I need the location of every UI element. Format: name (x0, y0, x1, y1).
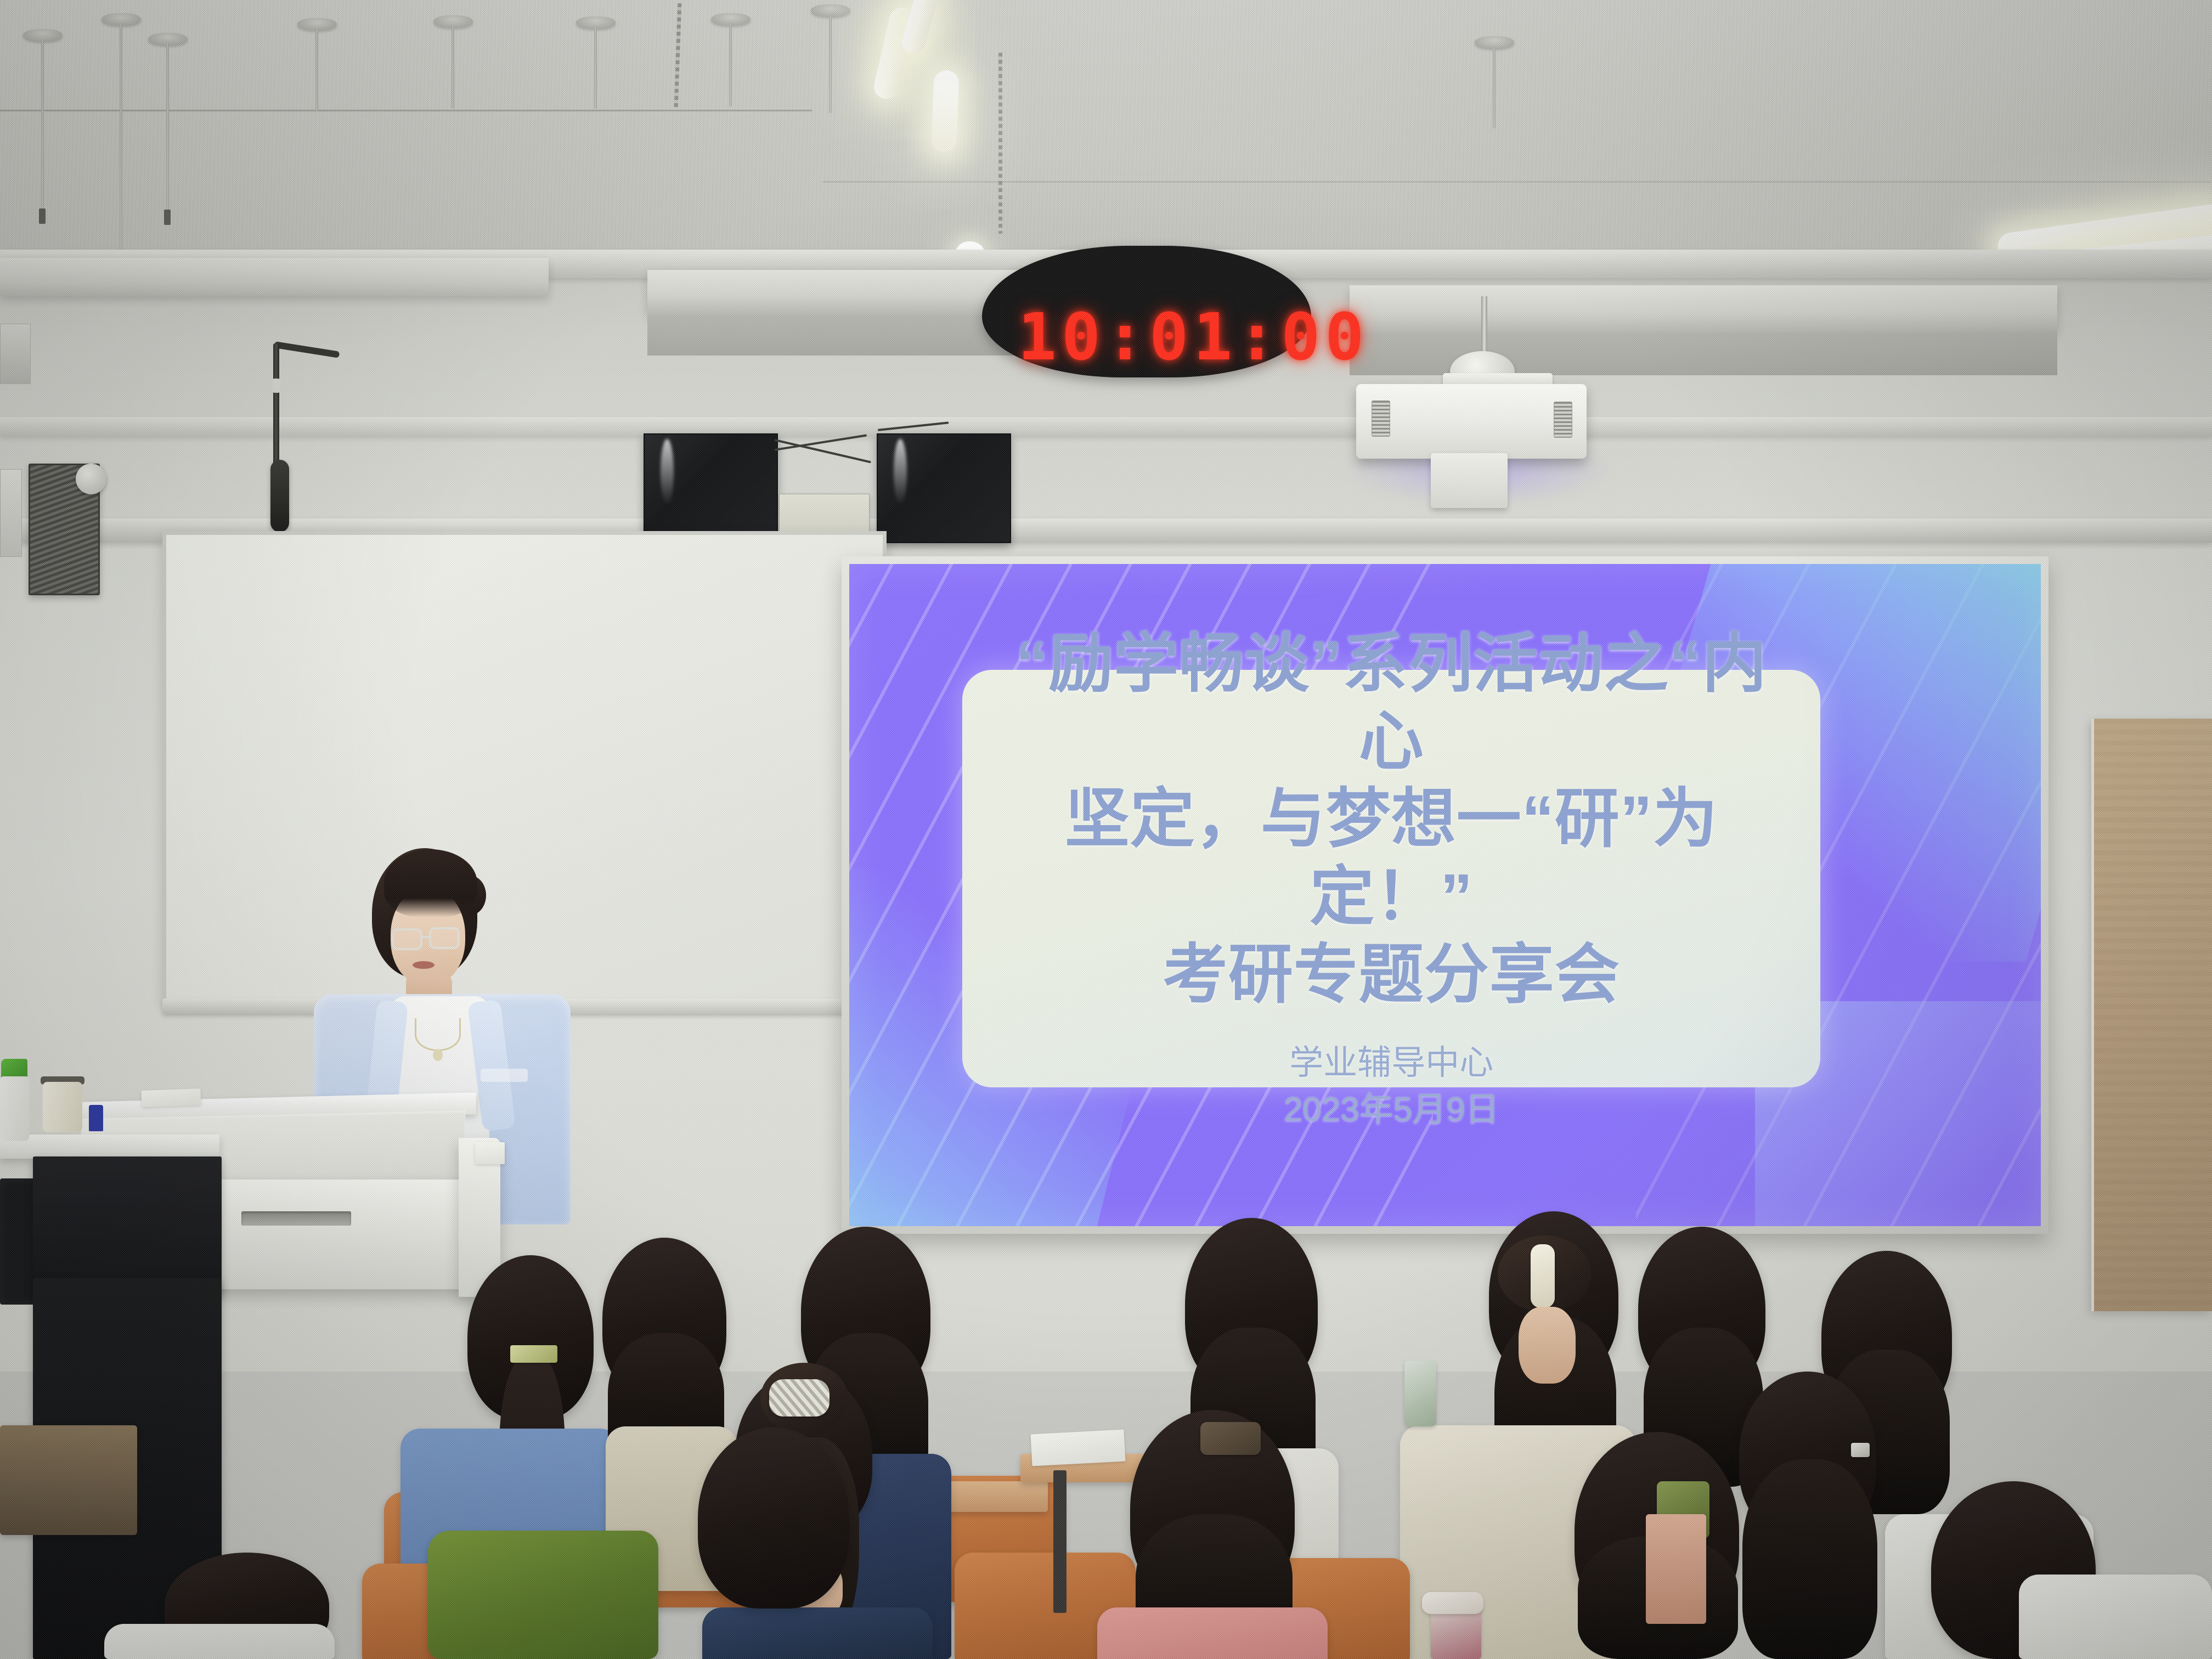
ceiling-light-tube (931, 70, 959, 153)
slide-canvas: “励学畅谈”系列活动之“内心 坚定，与梦想一“研”为定！” 考研专题分享会 学业… (849, 564, 2041, 1226)
ceiling-beam (0, 258, 549, 296)
water-bottle (1404, 1361, 1436, 1426)
slide-text-card: “励学畅谈”系列活动之“内心 坚定，与梦想一“研”为定！” 考研专题分享会 学业… (962, 670, 1820, 1087)
whiteboard (162, 531, 887, 1003)
jar (43, 1082, 82, 1132)
wall-speaker-right (877, 433, 1011, 543)
eyeglasses-left-lens (392, 928, 422, 950)
hanging-microphone (270, 460, 289, 532)
presenter-fringe (384, 849, 477, 917)
eyeglasses-right-lens (429, 927, 460, 949)
ceiling-projector (1356, 384, 1587, 459)
ceiling-seam (823, 181, 2211, 183)
hanging-rod (452, 25, 454, 109)
lectern-paper (475, 1142, 505, 1164)
chair-gap (1053, 1470, 1066, 1613)
paper-sheet (1031, 1430, 1126, 1466)
wall-speaker-left (644, 433, 778, 543)
wall-plate (0, 469, 22, 557)
whiteboard-surface (166, 535, 883, 999)
attendee-torso (104, 1624, 335, 1659)
lectern-cable-slot (241, 1211, 351, 1226)
vent-knob-icon (76, 464, 106, 494)
attendee-torso (1097, 1607, 1328, 1659)
hanging-rod (594, 26, 597, 109)
wall-plate (0, 324, 31, 384)
rod-clip (164, 210, 171, 225)
projector-vent (1554, 402, 1572, 438)
hanging-rod (166, 43, 169, 214)
microphone-ferrule (273, 379, 280, 393)
hair-clip (1531, 1244, 1555, 1308)
slide-organizer: 学业辅导中心 (1284, 1040, 1499, 1086)
attendee-nape (1519, 1307, 1576, 1384)
hair-clip (1851, 1443, 1870, 1457)
ceiling (0, 0, 2212, 258)
green-backpack (428, 1531, 658, 1659)
ceiling-beam (1350, 285, 2057, 332)
lectern-notes (142, 1088, 201, 1107)
light-chain (998, 53, 1002, 234)
eyeglasses-bridge (421, 936, 431, 938)
jacket-logo-patch (481, 1069, 528, 1082)
slide-title: “励学畅谈”系列活动之“内心 坚定，与梦想一“研”为定！” 考研专题分享会 (991, 625, 1792, 1014)
hair-clip (510, 1345, 557, 1363)
attendee-head (698, 1427, 849, 1609)
hanging-rod (1493, 46, 1496, 128)
attendee-torso (2019, 1575, 2212, 1659)
clock-time-display: 10:01:00 (1018, 299, 1369, 375)
side-table (0, 1425, 137, 1535)
slide-subtitle-block: 学业辅导中心 2023年5月9日 (1284, 1039, 1499, 1133)
microphone-stem (273, 343, 279, 464)
lecture-hall-photo: 10:01:00 “励学畅谈”系列活动之“内心 坚定，与梦想一“研”为定！” 考… (0, 0, 2212, 1659)
hanging-rod (829, 14, 832, 113)
blue-marker (89, 1105, 103, 1131)
hanging-rod (41, 39, 44, 212)
av-console (33, 1156, 222, 1294)
projector-shelf (1431, 453, 1508, 508)
ceiling-texture (0, 0, 2212, 258)
hanging-rod (729, 23, 732, 106)
rod-clip (39, 208, 46, 224)
wall-band (0, 417, 2212, 437)
hair-clip (1200, 1422, 1261, 1455)
necklace-pendant (433, 1049, 443, 1061)
presenter-mouth (413, 961, 435, 969)
hair-clip (769, 1379, 830, 1417)
attendee-hair (1742, 1459, 1877, 1659)
spray-bottle (0, 1076, 30, 1141)
bottle-cap (1422, 1592, 1483, 1614)
attendee-torso (702, 1607, 933, 1659)
side-desk-ledge (0, 1135, 219, 1159)
hanging-rod (120, 23, 122, 275)
hanging-rod (315, 29, 318, 111)
necklace (415, 1018, 461, 1051)
projector-vent (1372, 400, 1390, 437)
projection-screen: “励学畅谈”系列活动之“内心 坚定，与梦想一“研”为定！” 考研专题分享会 学业… (842, 556, 2049, 1234)
wooden-post (1646, 1514, 1706, 1624)
wooden-notice-board (2091, 719, 2212, 1311)
slide-date: 2023年5月9日 (1284, 1087, 1499, 1132)
